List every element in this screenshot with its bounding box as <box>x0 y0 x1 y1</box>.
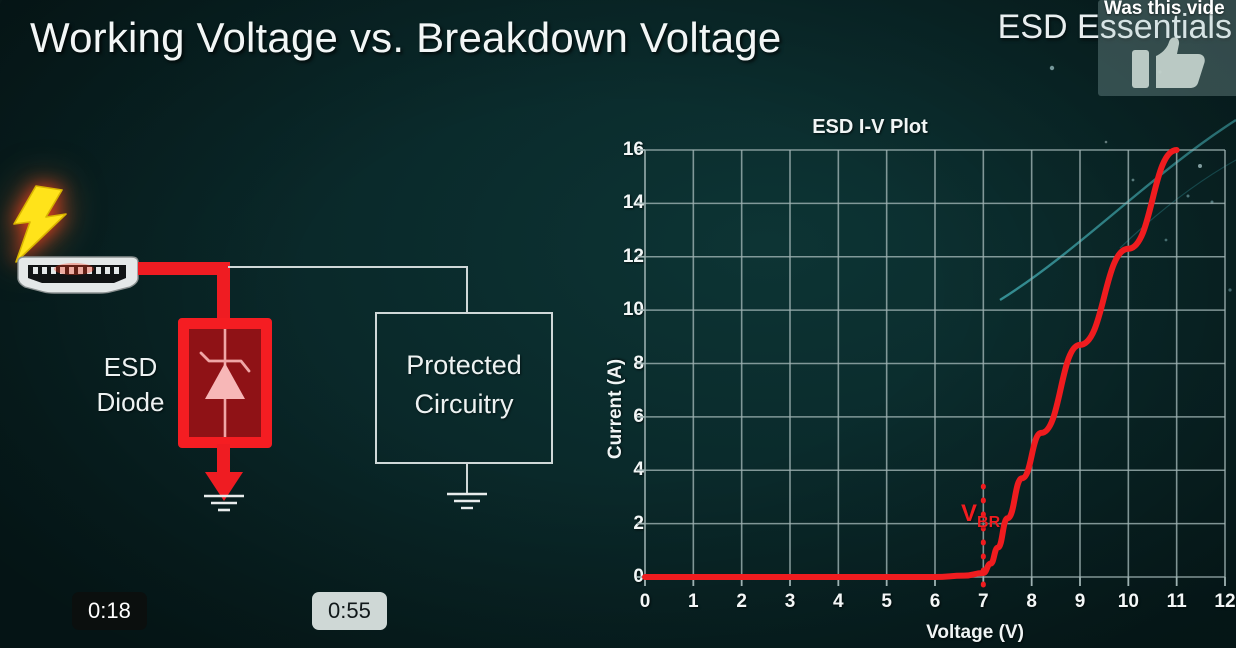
protected-ground-wire <box>466 464 468 493</box>
protected-label-line2: Circuitry <box>415 389 514 419</box>
esd-diode-box <box>178 318 272 448</box>
vbr-annotation-sub: BR <box>977 514 1000 531</box>
chart-plot-area <box>580 108 1236 648</box>
ground-icon <box>443 490 491 512</box>
vbr-annotation-main: V <box>961 500 977 527</box>
protected-label-line1: Protected <box>406 350 522 380</box>
signal-wire-vertical <box>466 266 468 314</box>
signal-wire-horizontal <box>228 266 468 268</box>
page-title: Working Voltage vs. Breakdown Voltage <box>30 14 781 62</box>
vbr-annotation-label: VBR <box>961 500 1000 532</box>
esd-diode-label-line2: Diode <box>97 387 165 417</box>
esd-iv-chart: ESD I-V Plot Current (A) Voltage (V) 024… <box>580 108 1236 648</box>
video-frame: Working Voltage vs. Breakdown Voltage ES… <box>0 0 1236 648</box>
timestamp-total[interactable]: 0:55 <box>312 592 387 630</box>
esd-diode-label: ESD Diode <box>88 350 173 420</box>
survey-question: Was this vide <box>1104 0 1225 20</box>
hdmi-connector-icon <box>14 256 142 294</box>
thumbs-up-icon[interactable] <box>1130 36 1208 90</box>
survey-overlay-panel[interactable]: Was this vide <box>1098 0 1236 96</box>
zener-diode-icon <box>189 329 261 437</box>
surge-wire-vertical <box>217 262 230 324</box>
timestamp-current[interactable]: 0:18 <box>72 592 147 630</box>
ground-icon <box>200 492 248 514</box>
esd-diode-label-line1: ESD <box>104 352 157 382</box>
protected-circuitry-label: Protected Circuitry <box>375 346 553 424</box>
